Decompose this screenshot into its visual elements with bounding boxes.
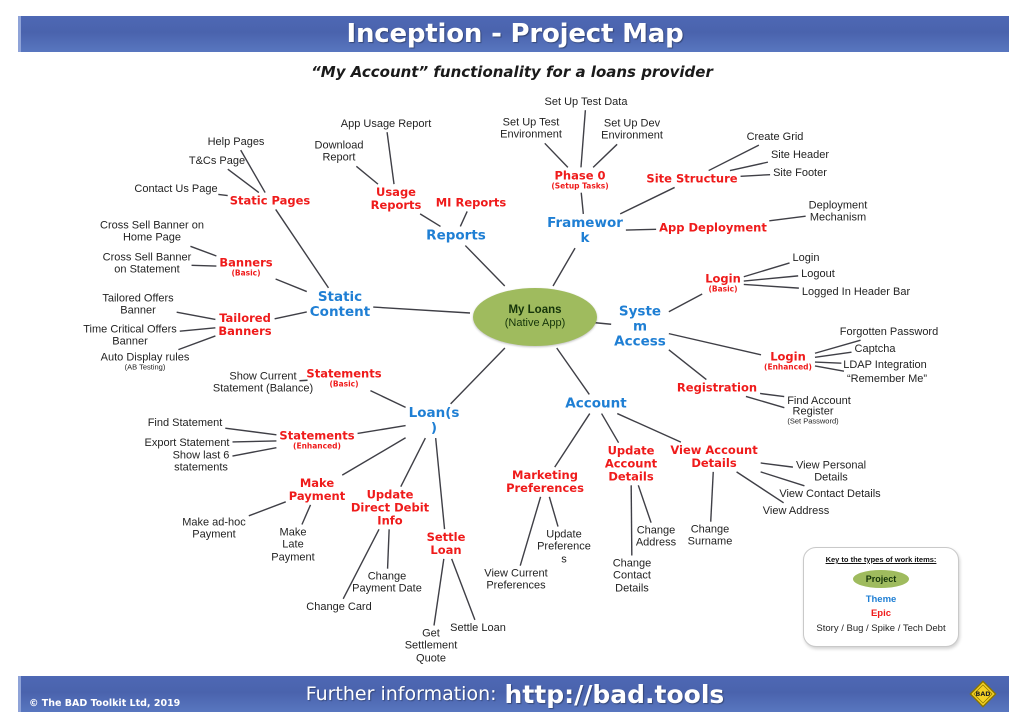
edge-t-reports-to-e-usagerep [420,214,440,227]
node-label: Statements [306,366,381,380]
node-label: Show Current Statement (Balance) [213,371,313,395]
mindmap-node-s-timecrit[interactable]: Time Critical Offers Banner [83,324,177,349]
edge-e-loginbasic-to-s-login [744,263,790,277]
node-label: App Deployment [659,221,767,235]
mindmap-node-s-adhoc[interactable]: Make ad-hoc Payment [182,517,246,542]
mindmap-node-s-chgaddr[interactable]: Change Address [636,525,676,550]
node-sublabel: (Basic) [219,269,272,277]
node-label: Forgotten Password [840,326,938,338]
header-bar: Inception - Project Map [18,16,1009,52]
edge-t-account-to-e-viewacct [617,414,681,443]
edge-t-static-to-e-staticpages [276,209,329,287]
mindmap-node-s-viewaddr[interactable]: View Address [763,505,829,517]
mindmap-node-s-login[interactable]: Login [793,252,820,264]
node-label: “Remember Me” [847,373,927,385]
node-label: Usage Reports [371,185,422,212]
node-label: Make Payment [289,476,346,503]
edge-e-tailored-to-s-timecrit [180,328,216,331]
mindmap-node-e-loginbasic[interactable]: Login(Basic) [705,272,741,293]
mindmap-node-s-setuptest[interactable]: Set Up Test Environment [500,117,562,142]
edge-t-framework-to-e-appdeploy [626,229,656,230]
mindmap-node-s-updprefs[interactable]: Update Preference s [537,529,591,566]
mindmap-node-t-reports[interactable]: Reports [426,228,486,243]
node-label: View Address [763,505,829,517]
edge-center-to-t-loans [451,348,505,404]
mindmap-node-e-stmtbasic[interactable]: Statements(Basic) [306,367,381,388]
edge-e-appdeploy-to-s-deploymech [769,216,805,221]
project-node-title: My Loans [508,304,561,317]
node-label: Change Address [636,525,676,549]
node-label: Set Up Dev Environment [601,118,663,142]
edge-center-to-t-account [557,348,590,394]
node-label: Loan(s ) [409,405,460,436]
mindmap-node-s-crossstmt[interactable]: Cross Sell Banner on Statement [103,252,192,277]
footer-bar: Further information: http://bad.tools © … [18,676,1009,712]
mindmap-node-e-mirep[interactable]: MI Reports [436,197,507,210]
mindmap-node-s-autodisp[interactable]: Auto Display rules(AB Testing) [101,352,190,373]
node-label: View Personal Details [796,460,866,484]
node-label: Find Statement [148,417,223,429]
node-label: Captcha [855,343,896,355]
edge-e-registration-to-s-findacct [760,393,784,396]
mindmap-node-s-chgcontact[interactable]: Change Contact Details [613,558,652,595]
node-label: Static Pages [230,194,311,208]
page-title: Inception - Project Map [346,19,683,49]
node-sublabel: (Enhanced) [764,363,812,371]
project-node-subtitle: (Native App) [505,317,566,329]
node-label: View Contact Details [779,488,880,500]
edge-e-updacct-to-s-chgaddr [638,485,651,522]
node-label: Set Up Test Data [545,96,628,108]
mindmap-node-s-viewprefs[interactable]: View Current Preferences [484,568,547,593]
project-map-page: Inception - Project Map “My Account” fun… [0,0,1024,725]
footer-url-link[interactable]: http://bad.tools [505,680,725,709]
node-label: Update Direct Debit Info [351,488,429,528]
node-label: Download Report [315,140,364,164]
edge-e-makepay-to-s-latepay [302,505,311,525]
mindmap-node-e-viewacct[interactable]: View Account Details [670,444,757,470]
edge-e-loginbasic-to-s-logout [744,276,798,281]
node-label: Change Payment Date [352,571,422,595]
node-label: Create Grid [747,131,804,143]
mindmap-node-e-usagerep[interactable]: Usage Reports [371,186,422,212]
mindmap-node-e-makepay[interactable]: Make Payment [289,477,346,503]
mindmap-node-s-contact[interactable]: Contact Us Page [134,183,217,195]
mindmap-node-s-captcha[interactable]: Captcha [855,343,896,355]
node-label: Registration [677,381,757,395]
edge-t-framework-to-e-phase0 [581,193,583,214]
mindmap-node-s-creategrid[interactable]: Create Grid [747,131,804,143]
node-label: Site Structure [646,172,737,186]
node-label: Update Preference s [537,529,591,566]
mindmap-node-s-deploymech[interactable]: Deployment Mechanism [809,200,868,225]
mindmap-node-s-tcs[interactable]: T&Cs Page [189,155,245,167]
node-label: Syste m Access [614,303,666,349]
node-label: Cross Sell Banner on Statement [103,252,192,276]
mindmap-node-s-logout[interactable]: Logout [801,268,835,280]
node-label: Deployment Mechanism [809,200,868,224]
mindmap-node-t-sysaccess[interactable]: Syste m Access [614,304,666,349]
edge-e-updacct-to-s-chgcontact [631,485,632,555]
mindmap-node-t-account[interactable]: Account [565,396,626,411]
node-sublabel: (AB Testing) [101,364,190,372]
mindmap-node-e-registration[interactable]: Registration [677,382,757,395]
edge-e-usagerep-to-s-download [356,166,378,184]
node-label: Site Header [771,149,829,161]
node-label: Register [793,406,834,418]
node-sublabel: (Basic) [306,380,381,388]
node-label: Framewor k [547,215,623,246]
edge-e-loginenh-to-s-ldap [815,362,841,363]
node-label: Settle Loan [427,530,466,557]
mindmap-node-s-sitefooter[interactable]: Site Footer [773,167,827,179]
edge-e-phase0-to-s-setupdata [581,110,585,167]
node-label: App Usage Report [341,118,432,130]
mindmap-node-s-remember[interactable]: “Remember Me” [847,373,927,385]
mindmap-node-s-setupdev[interactable]: Set Up Dev Environment [601,118,663,143]
edge-t-static-to-e-tailored [275,312,307,319]
node-label: Cross Sell Banner on Home Page [100,220,204,244]
edge-e-stmtenh-to-s-exportstmt [233,441,277,442]
edge-e-settle-to-s-settleloan [452,559,475,620]
mindmap-node-e-settle[interactable]: Settle Loan [427,531,466,557]
node-label: Tailored Offers Banner [102,293,173,317]
edge-e-viewacct-to-s-chgsurname [711,472,714,522]
node-label: LDAP Integration [843,359,927,371]
edge-e-updatedd-to-s-chgpaydate [388,529,390,568]
edge-e-registration-to-s-register [746,396,784,407]
mindmap-node-t-framework[interactable]: Framewor k [547,216,623,246]
mindmap-node-s-last6[interactable]: Show last 6 statements [173,450,230,475]
edge-e-tailored-to-s-autodisp [178,336,215,350]
edge-t-static-to-e-banners [276,279,307,292]
node-label: Statements [279,428,354,442]
mindmap-node-s-forgotten[interactable]: Forgotten Password [840,326,938,338]
node-label: Set Up Test Environment [500,117,562,141]
edge-e-phase0-to-s-setuptest [545,143,568,167]
mindmap-node-s-help[interactable]: Help Pages [208,136,265,148]
node-label: T&Cs Page [189,155,245,167]
footer-further-label: Further information: [306,683,497,705]
legend-title: Key to the types of work items: [826,555,937,564]
edge-e-marketing-to-s-updprefs [549,497,558,527]
node-label: Make ad-hoc Payment [182,517,246,541]
edge-e-loginenh-to-s-remember [815,366,844,371]
edge-e-phase0-to-s-setupdev [593,144,617,167]
node-label: Make Late Payment [271,527,314,564]
edge-center-to-t-reports [465,246,504,286]
edge-t-account-to-e-marketing [555,414,590,468]
mindmap-node-s-loggedin[interactable]: Logged In Header Bar [802,286,910,298]
mindmap-node-s-latepay[interactable]: Make Late Payment [271,527,314,564]
mindmap-node-center[interactable]: My Loans(Native App) [473,288,597,346]
mindmap-node-s-viewcontact[interactable]: View Contact Details [779,488,880,500]
mindmap-node-e-tailored[interactable]: Tailored Banners [218,312,271,338]
mindmap-node-s-chgsurname[interactable]: Change Surname [688,524,733,549]
node-label: Auto Display rules [101,352,190,364]
legend-epic-label: Epic [871,608,891,619]
node-label: Site Footer [773,167,827,179]
legend-theme-label: Theme [866,594,897,605]
mindmap-node-e-sitestruct[interactable]: Site Structure [646,173,737,186]
node-label: View Current Preferences [484,568,547,592]
node-label: Login [793,252,820,264]
edge-center-to-t-framework [553,248,575,286]
mindmap-node-s-register[interactable]: Register(Set Password) [787,406,838,427]
node-label: Static Content [310,289,370,320]
edge-e-banners-to-s-crosshome [190,246,216,256]
edge-e-banners-to-s-crossstmt [192,265,217,266]
node-label: MI Reports [436,196,507,210]
edge-e-stmtenh-to-s-findstmt [225,428,276,435]
edge-e-stmtenh-to-s-last6 [232,448,276,456]
mindmap-node-t-static[interactable]: Static Content [310,290,370,320]
edge-t-loans-to-e-stmtenh [358,426,406,434]
mindmap-node-s-appusage[interactable]: App Usage Report [341,118,432,130]
mindmap-node-s-settleloan[interactable]: Settle Loan [450,622,506,634]
mindmap-node-s-crosshome[interactable]: Cross Sell Banner on Home Page [100,220,204,245]
node-sublabel: (Setup Tasks) [551,182,608,190]
edge-e-loginbasic-to-s-loggedin [744,284,799,288]
edge-e-viewacct-to-s-viewaddr [737,472,784,503]
node-label: Settle Loan [450,622,506,634]
mindmap-node-e-marketing[interactable]: Marketing Preferences [506,469,584,495]
node-label: Account [565,395,626,411]
mindmap-node-s-tailoroff[interactable]: Tailored Offers Banner [102,293,173,318]
edge-e-tailored-to-s-tailoroff [177,312,216,319]
edge-e-sitestruct-to-s-siteheader [730,162,768,170]
node-label: Help Pages [208,136,265,148]
edge-e-staticpages-to-s-contact [218,194,227,195]
node-label: Banners [219,255,272,269]
node-label: Tailored Banners [218,311,271,338]
edge-e-loginenh-to-s-captcha [815,352,852,357]
node-label: Logged In Header Bar [802,286,910,298]
node-label: Marketing Preferences [506,468,584,495]
mindmap-node-e-stmtenh[interactable]: Statements(Enhanced) [279,429,354,450]
edge-t-reports-to-e-mirep [460,211,467,226]
mindmap-node-s-setupdata[interactable]: Set Up Test Data [545,96,628,108]
node-label: Change Contact Details [613,558,652,595]
node-label: Reports [426,227,486,243]
mindmap-node-e-banners[interactable]: Banners(Basic) [219,256,272,277]
mindmap-node-s-viewpers[interactable]: View Personal Details [796,460,866,485]
edge-t-sysaccess-to-e-loginbasic [669,294,702,312]
legend-story-label: Story / Bug / Spike / Tech Debt [816,623,945,634]
edge-center-to-t-static [373,307,470,313]
legend-box: Key to the types of work items: Project … [803,547,959,647]
node-label: Show last 6 statements [173,450,230,474]
edge-t-account-to-e-updacct [602,414,619,443]
bad-toolkit-logo-icon: BAD [969,680,997,708]
footer-copyright: © The BAD Toolkit Ltd, 2019 [29,698,180,709]
edge-e-staticpages-to-s-tcs [228,169,259,192]
edge-e-makepay-to-s-adhoc [249,502,286,516]
legend-project-swatch: Project [853,570,909,588]
edge-t-loans-to-e-stmtbasic [370,391,405,408]
node-label: Login [770,349,806,363]
mindmap-node-s-chgpaydate[interactable]: Change Payment Date [352,571,422,596]
node-label: Login [705,271,741,285]
node-label: Export Statement [145,437,230,449]
mindmap-node-t-loans[interactable]: Loan(s ) [409,406,460,436]
mindmap-node-s-showcurrent[interactable]: Show Current Statement (Balance) [213,371,313,396]
mindmap-node-s-exportstmt[interactable]: Export Statement [145,437,230,449]
edge-t-sysaccess-to-e-registration [669,350,707,380]
node-sublabel: (Basic) [705,285,741,293]
mindmap-node-s-chgcard[interactable]: Change Card [306,601,371,613]
node-label: Phase 0 [554,168,605,182]
mindmap-node-e-updacct[interactable]: Update Account Details [605,445,657,484]
mindmap-node-e-loginenh[interactable]: Login(Enhanced) [764,350,812,371]
node-label: View Account Details [670,443,757,470]
edge-t-loans-to-e-settle [436,438,445,529]
mindmap-node-e-phase0[interactable]: Phase 0(Setup Tasks) [551,169,608,190]
page-subtitle: “My Account” functionality for a loans p… [0,63,1024,81]
node-label: Contact Us Page [134,183,217,195]
edge-t-framework-to-e-sitestruct [620,187,674,213]
edge-e-sitestruct-to-s-sitefooter [741,175,771,177]
edge-t-loans-to-e-updatedd [401,438,426,487]
edge-e-settle-to-s-getquote [434,559,444,626]
node-label: Change Card [306,601,371,613]
mindmap-node-s-ldap[interactable]: LDAP Integration [843,359,927,371]
edge-e-usagerep-to-s-appusage [387,132,394,184]
node-label: Change Surname [688,524,733,548]
node-sublabel: (Set Password) [787,418,838,426]
node-label: Logout [801,268,835,280]
mindmap-node-e-appdeploy[interactable]: App Deployment [659,222,767,235]
mindmap-node-e-updatedd[interactable]: Update Direct Debit Info [351,489,429,528]
node-label: Time Critical Offers Banner [83,324,177,348]
node-label: Update Account Details [605,444,657,484]
mindmap-node-e-staticpages[interactable]: Static Pages [230,195,311,208]
mindmap-node-s-download[interactable]: Download Report [315,140,364,165]
svg-text:BAD: BAD [976,691,991,698]
node-sublabel: (Enhanced) [279,442,354,450]
mindmap-node-s-findstmt[interactable]: Find Statement [148,417,223,429]
edge-e-viewacct-to-s-viewpers [761,463,793,467]
edge-e-sitestruct-to-s-creategrid [709,145,759,170]
edge-t-sysaccess-to-e-loginenh [669,334,761,355]
mindmap-node-s-siteheader[interactable]: Site Header [771,149,829,161]
